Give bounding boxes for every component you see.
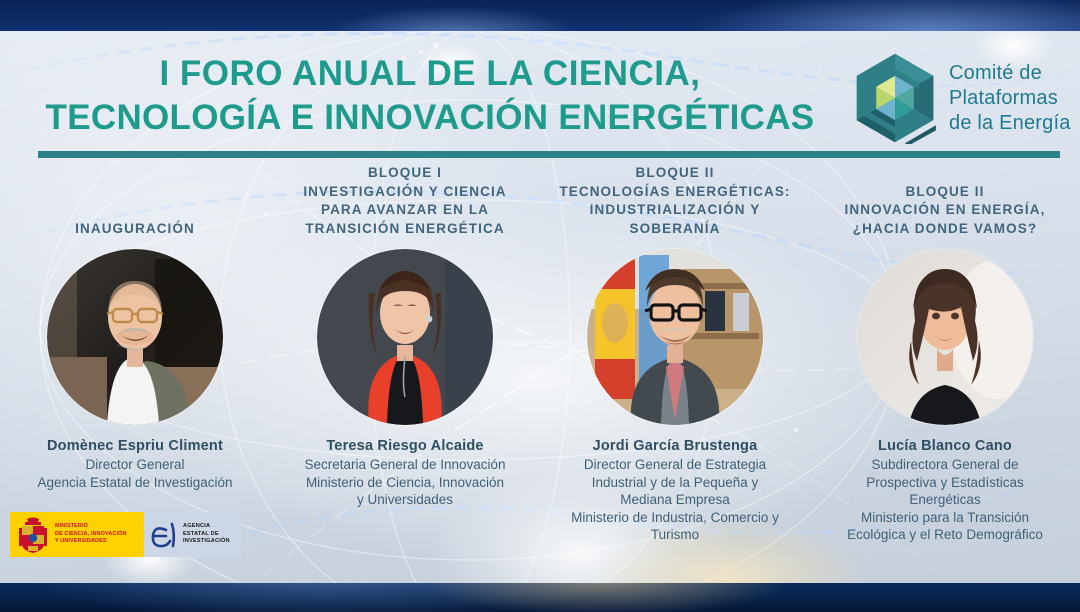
ministerio-line-2: DE CIENCIA, INNOVACIÓN [55, 531, 127, 538]
agencia-estatal-investigacion-logo: AGENCIA ESTATAL DE INVESTIGACIÓN [144, 512, 241, 557]
top-navy-band [0, 0, 1080, 31]
block-heading-3-line-3: INDUSTRIALIZACIÓN Y [548, 201, 803, 220]
block-heading-2-line-2: INVESTIGACIÓN Y CIENCIA [278, 183, 533, 202]
aei-line-1: AGENCIA [183, 523, 230, 531]
footer-institution-logos: MINISTERIO DE CIENCIA, INNOVACIÓN Y UNIV… [10, 512, 241, 557]
speaker-photo-lucia-blanco-cano [857, 249, 1033, 425]
speaker-meta-4: Lucía Blanco Cano Subdirectora General d… [811, 437, 1079, 544]
speaker-meta-2: Teresa Riesgo Alcaide Secretaria General… [271, 437, 539, 509]
block-heading-4-line-2: INNOVACIÓN EN ENERGÍA, [818, 201, 1073, 220]
block-heading-3-line-2: TECNOLOGÍAS ENERGÉTICAS: [548, 183, 803, 202]
block-heading-3-line-1: BLOQUE II [548, 164, 803, 183]
comite-logo-text: Comité de Plataformas de la Energía [949, 61, 1071, 136]
speaker-role-3: Director General de Estrategia Industria… [541, 456, 809, 544]
event-title-line-1: I FORO ANUAL DE LA CIENCIA, [0, 52, 860, 96]
logo-text-line-3: de la Energía [949, 111, 1071, 136]
ministerio-ciencia-innovacion-universidades-logo: MINISTERIO DE CIENCIA, INNOVACIÓN Y UNIV… [10, 512, 144, 557]
speaker-meta-3: Jordi García Brustenga Director General … [541, 437, 809, 544]
speaker-role-4: Subdirectora General de Prospectiva y Es… [811, 456, 1079, 544]
logo-text-line-2: Plataformas [949, 86, 1071, 111]
header-divider [38, 151, 1060, 158]
event-title-line-2: TECNOLOGÍA E INNOVACIÓN ENERGÉTICAS [0, 96, 860, 140]
speaker-role-3-line-5: Turismo [541, 526, 809, 544]
event-title: I FORO ANUAL DE LA CIENCIA, TECNOLOGÍA E… [0, 52, 860, 140]
block-heading-4: BLOQUE II INNOVACIÓN EN ENERGÍA, ¿HACIA … [818, 163, 1073, 241]
speaker-role-1: Director General Agencia Estatal de Inve… [1, 456, 269, 491]
aei-ei-monogram-icon [149, 518, 179, 552]
speaker-column-bloque-2a: BLOQUE II TECNOLOGÍAS ENERGÉTICAS: INDUS… [540, 163, 810, 593]
speaker-role-3-line-1: Director General de Estrategia [541, 456, 809, 474]
block-heading-2-line-3: PARA AVANZAR EN LA [278, 201, 533, 220]
logo-text-line-1: Comité de [949, 61, 1071, 86]
speaker-role-2: Secretaria General de Innovación Ministe… [271, 456, 539, 509]
speaker-role-3-line-3: Mediana Empresa [541, 491, 809, 509]
speaker-name-4: Lucía Blanco Cano [811, 437, 1079, 455]
speaker-name-3: Jordi García Brustenga [541, 437, 809, 455]
ministerio-line-3: Y UNIVERSIDADES [55, 538, 127, 545]
hexagon-c-logo-icon [852, 52, 938, 144]
speaker-photo-teresa-riesgo-alcaide [317, 249, 493, 425]
block-heading-2-line-1: BLOQUE I [278, 164, 533, 183]
aei-logo-text: AGENCIA ESTATAL DE INVESTIGACIÓN [183, 523, 230, 546]
block-heading-1-line-1: INAUGURACIÓN [8, 220, 263, 239]
speaker-role-4-line-2: Prospectiva y Estadísticas [811, 474, 1079, 492]
block-heading-4-line-3: ¿HACIA DONDE VAMOS? [818, 220, 1073, 239]
speaker-meta-1: Domènec Espriu Climent Director General … [1, 437, 269, 491]
block-heading-4-line-1: BLOQUE II [818, 183, 1073, 202]
speaker-column-bloque-2b: BLOQUE II INNOVACIÓN EN ENERGÍA, ¿HACIA … [810, 163, 1080, 593]
speaker-role-4-line-4: Ministerio para la Transición [811, 509, 1079, 527]
speaker-photo-jordi-garcia-brustenga [587, 249, 763, 425]
speaker-role-1-line-2: Agencia Estatal de Investigación [1, 474, 269, 492]
block-heading-2-line-4: TRANSICIÓN ENERGÉTICA [278, 220, 533, 239]
block-heading-2: BLOQUE I INVESTIGACIÓN Y CIENCIA PARA AV… [278, 163, 533, 241]
comite-plataformas-energia-logo: Comité de Plataformas de la Energía [852, 50, 1074, 146]
speaker-role-2-line-2: Ministerio de Ciencia, Innovación [271, 474, 539, 492]
speaker-role-2-line-3: y Universidades [271, 491, 539, 509]
block-heading-3-line-4: SOBERANÍA [548, 220, 803, 239]
speaker-name-1: Domènec Espriu Climent [1, 437, 269, 455]
spain-coat-of-arms-icon [16, 516, 50, 554]
block-heading-1: INAUGURACIÓN [8, 163, 263, 241]
speaker-column-bloque-1: BLOQUE I INVESTIGACIÓN Y CIENCIA PARA AV… [270, 163, 540, 593]
speaker-role-1-line-1: Director General [1, 456, 269, 474]
speaker-role-4-line-3: Energéticas [811, 491, 1079, 509]
speaker-role-4-line-1: Subdirectora General de [811, 456, 1079, 474]
speaker-name-2: Teresa Riesgo Alcaide [271, 437, 539, 455]
speaker-role-2-line-1: Secretaria General de Innovación [271, 456, 539, 474]
aei-line-3: INVESTIGACIÓN [183, 538, 230, 546]
slide-canvas: I FORO ANUAL DE LA CIENCIA, TECNOLOGÍA E… [0, 0, 1080, 612]
ministerio-logo-text: MINISTERIO DE CIENCIA, INNOVACIÓN Y UNIV… [55, 523, 127, 545]
block-heading-3: BLOQUE II TECNOLOGÍAS ENERGÉTICAS: INDUS… [548, 163, 803, 241]
ministerio-line-1: MINISTERIO [55, 523, 127, 530]
speaker-photo-domenec-espriu-climent [47, 249, 223, 425]
speaker-role-3-line-2: Industrial y de la Pequeña y [541, 474, 809, 492]
speaker-role-3-line-4: Ministerio de Industria, Comercio y [541, 509, 809, 527]
speaker-role-4-line-5: Ecológica y el Reto Demográfico [811, 526, 1079, 544]
